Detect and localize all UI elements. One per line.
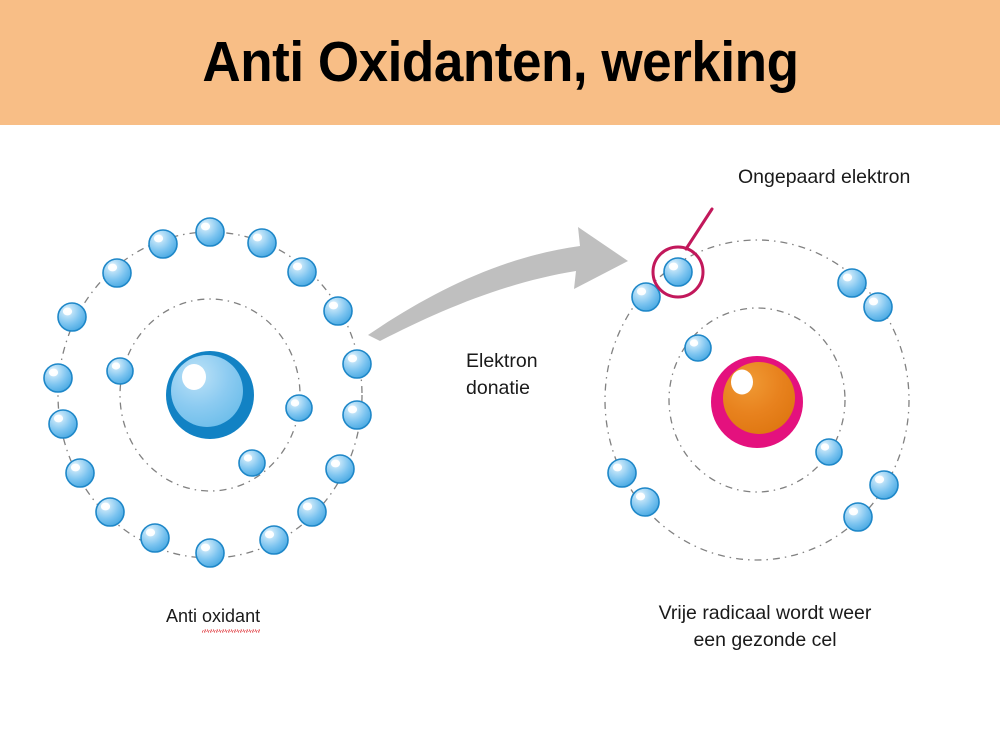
- slide-root: Anti Oxidanten, werking: [0, 0, 1000, 750]
- free-radical-line-2: een gezonde cel: [645, 627, 885, 654]
- free-radical-line-1: Vrije radicaal wordt weer: [659, 602, 872, 624]
- atom-diagram-svg: [0, 125, 1000, 750]
- title-banner: Anti Oxidanten, werking: [0, 0, 1000, 125]
- anti-oxidant-word-1: Anti: [166, 606, 202, 626]
- right-atom-group: [605, 209, 909, 560]
- left-atom-nucleus: [166, 351, 254, 439]
- electron-donation-line-2: donatie: [466, 375, 538, 402]
- diagram-canvas: Ongepaard elektron Elektron donatie Anti…: [0, 125, 1000, 750]
- label-anti-oxidant: Anti oxidant: [166, 604, 260, 629]
- page-title: Anti Oxidanten, werking: [202, 34, 798, 91]
- electron-donation-arrow: [368, 227, 628, 341]
- left-atom-group: [44, 218, 371, 567]
- label-free-radical: Vrije radicaal wordt weer een gezonde ce…: [645, 600, 885, 654]
- anti-oxidant-word-2-misspelled: oxidant: [202, 604, 260, 629]
- label-electron-donation: Elektron donatie: [466, 348, 538, 402]
- electron-donation-line-1: Elektron: [466, 350, 538, 372]
- unpaired-electron: [664, 258, 692, 286]
- label-unpaired-electron: Ongepaard elektron: [738, 164, 910, 191]
- right-atom-nucleus: [711, 356, 803, 448]
